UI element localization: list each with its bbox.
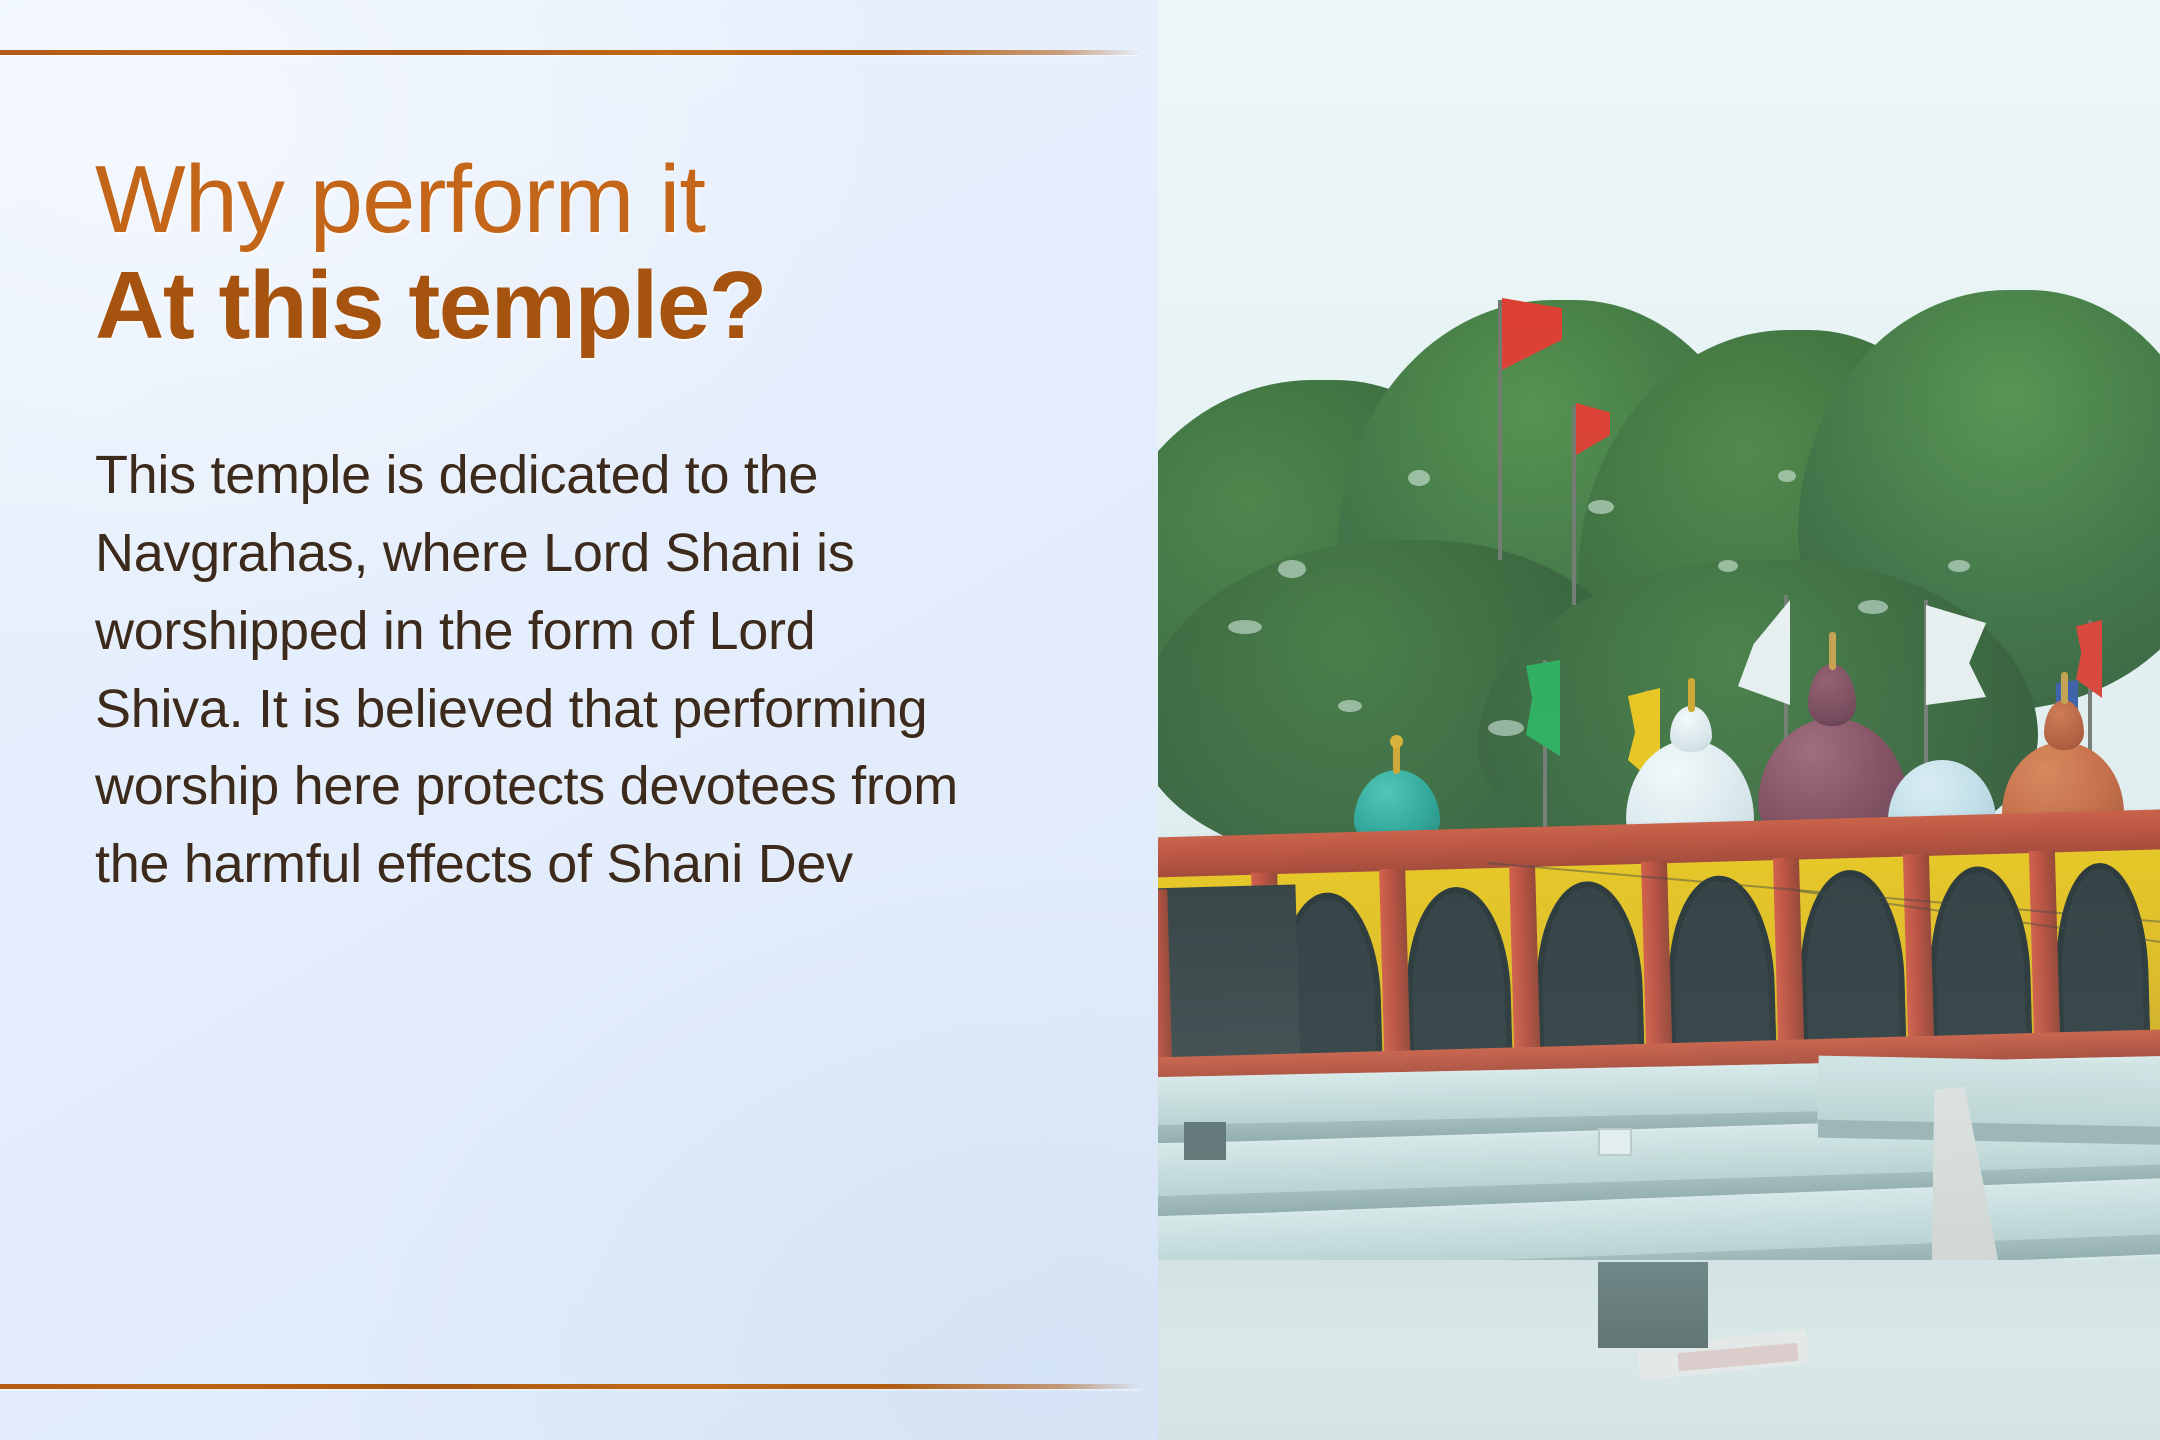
text-content: Why perform it At this temple? This temp… [95,150,1055,904]
drain-block-2 [1184,1122,1226,1160]
bottom-divider-rule [0,1384,1140,1389]
top-divider-rule [0,50,1140,55]
body-paragraph: This temple is dedicated to the Navgraha… [95,437,975,904]
text-panel: Why perform it At this temple? This temp… [0,0,1158,1440]
headline-line-1: Why perform it [95,150,1055,250]
drain-block [1598,1262,1708,1348]
temple-photo [1158,0,2160,1440]
headline-line-2: At this temple? [95,252,1055,360]
temple-left-wing [1158,884,1300,1070]
slide-root: Why perform it At this temple? This temp… [0,0,2160,1440]
small-white-box [1598,1128,1632,1156]
